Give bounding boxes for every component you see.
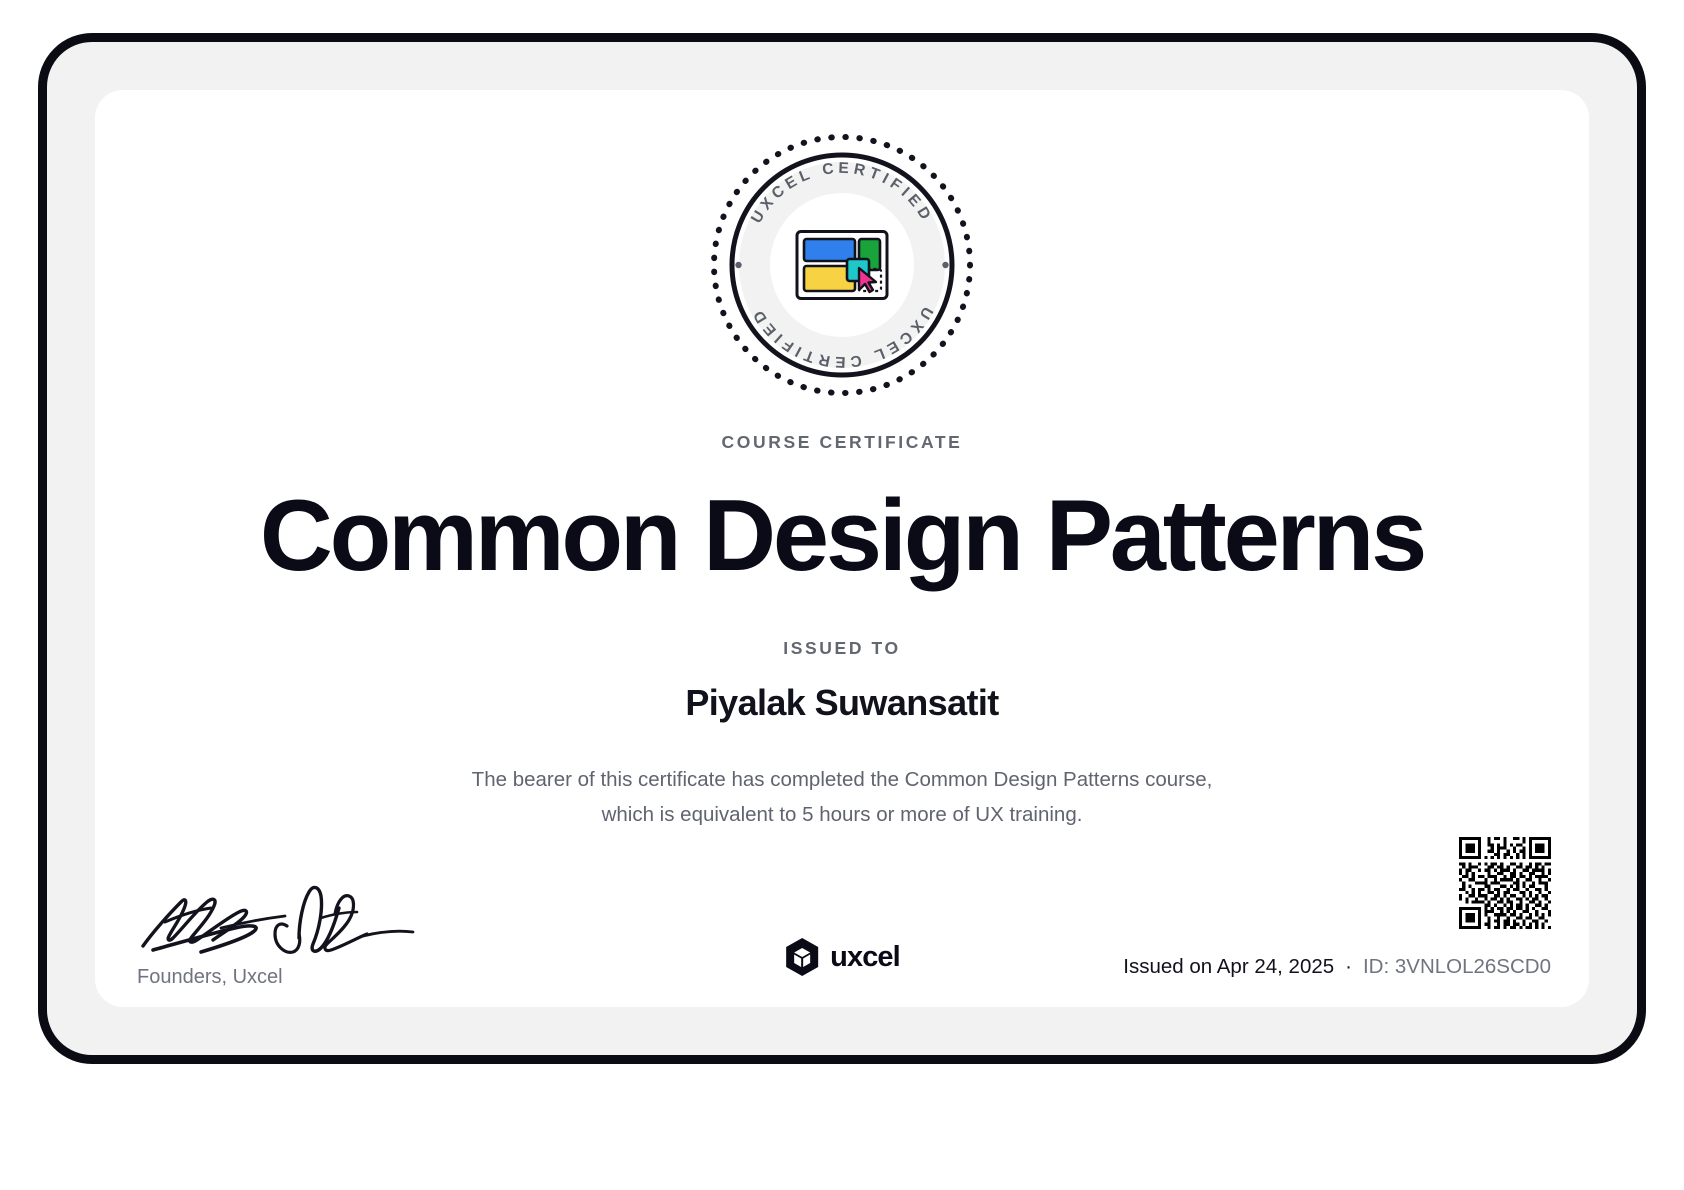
certificate-id: ID: 3VNLOL26SCD0	[1363, 955, 1551, 979]
body-line-1: The bearer of this certificate has compl…	[472, 768, 1140, 791]
signature-block: Founders, Uxcel	[135, 866, 465, 989]
recipient-name: Piyalak Suwansatit	[95, 682, 1589, 724]
certificate-meta: Issued on Apr 24, 2025 · ID: 3VNLOL26SCD…	[1123, 955, 1551, 979]
signature-caption: Founders, Uxcel	[137, 966, 465, 989]
page-title: Common Design Patterns	[95, 482, 1589, 591]
issued-date: Issued on Apr 24, 2025	[1123, 955, 1334, 979]
design-patterns-layout-icon	[797, 232, 887, 299]
founders-signatures-image	[135, 866, 435, 958]
certificate-outer-frame: UXCEL CERTIFIED UXCEL CERTIFIED	[38, 33, 1646, 1064]
certificate-body-text: The bearer of this certificate has compl…	[462, 762, 1222, 833]
uxcel-certified-seal: UXCEL CERTIFIED UXCEL CERTIFIED	[707, 130, 977, 400]
certificate-card: UXCEL CERTIFIED UXCEL CERTIFIED	[95, 90, 1589, 1007]
uxcel-wordmark: uxcel	[830, 941, 900, 974]
uxcel-cube-icon	[784, 937, 820, 977]
issued-to-kicker: ISSUED TO	[95, 638, 1589, 659]
course-certificate-kicker: COURSE CERTIFICATE	[95, 432, 1589, 453]
certificate-verification-qr[interactable]	[1459, 837, 1551, 929]
seal-graphic: UXCEL CERTIFIED UXCEL CERTIFIED	[707, 130, 977, 400]
seal-dot-left	[735, 262, 741, 268]
uxcel-brand-logo: uxcel	[784, 937, 900, 977]
seal-dot-right	[942, 262, 948, 268]
meta-separator: ·	[1345, 955, 1352, 979]
layout-block-blue	[804, 239, 855, 261]
qr-code-image	[1459, 837, 1551, 929]
